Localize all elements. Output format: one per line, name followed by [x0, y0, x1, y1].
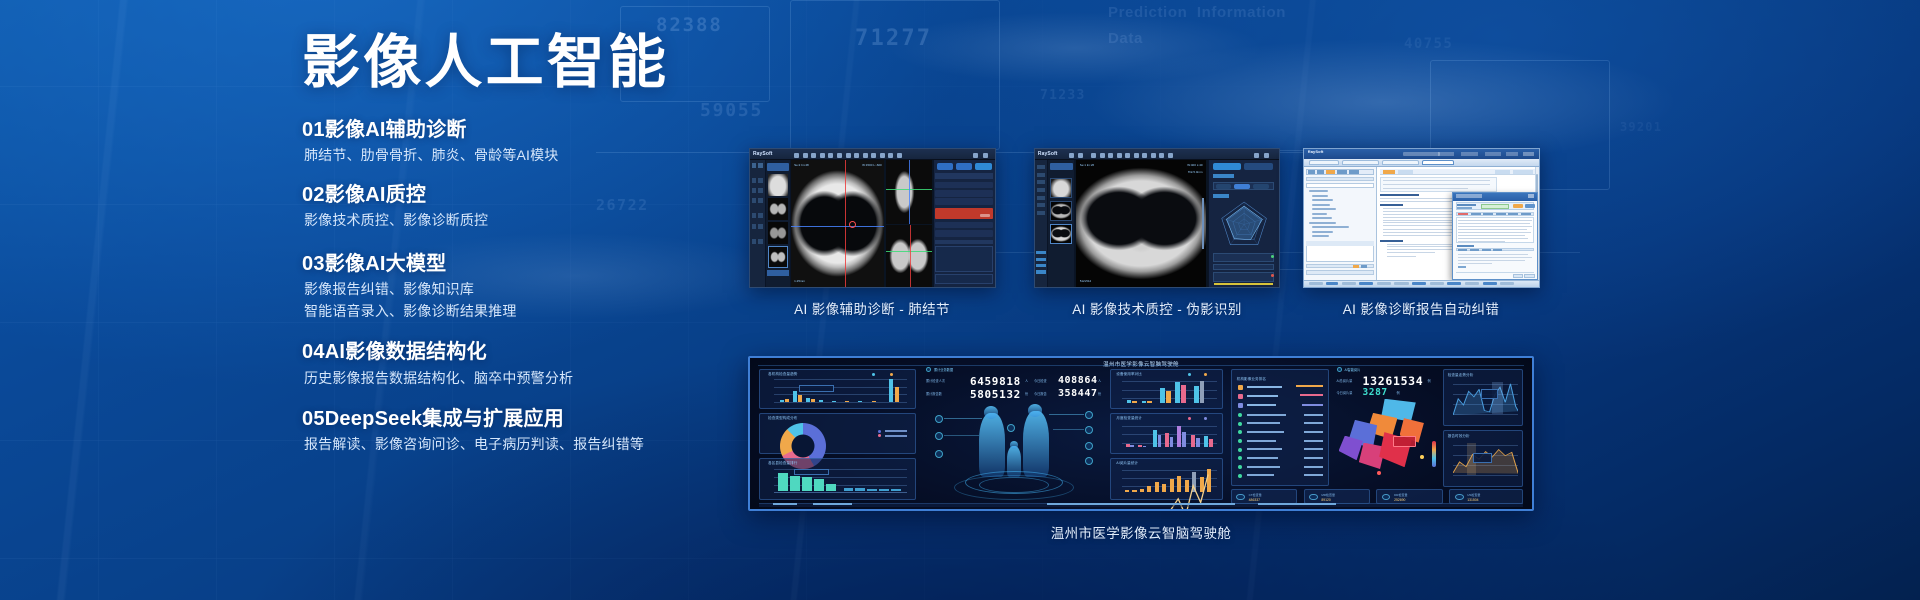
series-thumbnail-list[interactable] — [1048, 160, 1075, 287]
kpi-label: US检查量 — [1467, 493, 1480, 497]
hero-section-label: 累计业务数据 — [934, 367, 953, 372]
bg-number: 39201 — [1620, 120, 1662, 134]
feature-item-01: 01影像AI辅助诊断 肺结节、肋骨骨折、肺炎、骨龄等AI模块 — [302, 116, 722, 167]
ai-section-label: AI智能阅片 — [1345, 367, 1361, 372]
correction-popup-window[interactable] — [1452, 192, 1538, 280]
board-hero-panel: 累计业务数据 累计检查人次 6459818 人 今日检查 408864 人 累计… — [926, 367, 1102, 500]
dashboard-title: 温州市医学影像云智脑驾驶舱 — [1103, 360, 1179, 368]
lung-icon — [1236, 494, 1244, 501]
stat-label: 累计报告数 — [926, 391, 942, 396]
open-button[interactable] — [937, 163, 953, 169]
caption-dashboard: 温州市医学影像云智脑驾驶舱 — [1051, 522, 1231, 542]
card-title: 月度检查量统计 — [1116, 416, 1142, 421]
sagittal-ct-view[interactable] — [886, 160, 933, 223]
card-title: AI阅片量统计 — [1116, 461, 1138, 466]
finding-row[interactable] — [935, 222, 993, 229]
stat-unit: 份 — [1025, 391, 1028, 396]
stat-label: 今日报告 — [1034, 391, 1047, 396]
viewer-left-toolrail[interactable] — [1035, 160, 1048, 287]
feature-desc: 肺结节、肋骨骨折、肺炎、骨龄等AI模块 — [302, 145, 722, 167]
kpi-value: 252690 — [1394, 498, 1405, 502]
app-logo: RaySoft — [1038, 151, 1058, 157]
finding-row[interactable] — [935, 230, 993, 237]
card-title: 机构影像业务排名 — [1237, 377, 1266, 382]
tab-item-active[interactable] — [1422, 160, 1455, 165]
save-button[interactable] — [956, 163, 972, 169]
finding-row[interactable] — [935, 198, 993, 205]
axial-ct-view[interactable]: Se:2 Im:48 W:1500 L:-600 1.25mm — [791, 160, 884, 287]
stat-unit: 例 — [1428, 378, 1431, 383]
human-figures-graphic — [926, 403, 1102, 500]
viewer-left-toolrail[interactable] — [750, 160, 766, 287]
brain-icon — [1309, 494, 1317, 501]
kpi-label: CT检查量 — [1249, 493, 1262, 497]
feature-item-04: 04AI影像数据结构化 历史影像报告数据结构化、脑卒中预警分析 — [302, 338, 722, 389]
tab-item[interactable] — [1309, 160, 1340, 165]
finding-row-alert[interactable] — [935, 208, 993, 219]
bg-number: 71233 — [1040, 88, 1086, 103]
card-title: 各区县检查量排行 — [768, 461, 797, 466]
stat-unit: 份 — [1098, 391, 1101, 396]
board-card-ranking[interactable]: 机构影像业务排名 — [1231, 369, 1329, 487]
stat-label: 今日阅片量 — [1337, 390, 1353, 395]
caption-report-correction: AI 影像诊断报告自动纠错 — [1343, 298, 1499, 318]
board-card-line2[interactable]: 报告时效分析 — [1443, 430, 1523, 487]
screenshot-ai-qc[interactable]: RaySoft — [1034, 148, 1280, 288]
feature-item-03: 03影像AI大模型 影像报告纠错、影像知识库 智能语音录入、影像诊断结果推理 — [302, 250, 722, 323]
feature-item-02: 02影像AI质控 影像技术质控、影像诊断质控 — [302, 181, 722, 232]
screenshot-ai-diagnosis[interactable]: RaySoft — [749, 148, 996, 288]
submit-button[interactable] — [975, 163, 992, 169]
region-map[interactable] — [1337, 397, 1439, 485]
report-tree-sidebar[interactable] — [1304, 167, 1377, 279]
finding-row[interactable] — [935, 190, 993, 197]
feature-title: 04AI影像数据结构化 — [302, 338, 722, 367]
card-title: 检查量走势分析 — [1448, 373, 1474, 378]
kpi-label: DR检查量 — [1394, 493, 1407, 497]
tab-item[interactable] — [1342, 160, 1380, 165]
page-title: 影像人工智能 — [302, 34, 669, 92]
app-tabbar[interactable] — [1304, 159, 1539, 168]
qc-score-panel[interactable] — [1208, 160, 1279, 287]
axial-ct-view[interactable]: Se:1 Im:26 W:400 L:40 Thk:5.0mm 512x512 — [1076, 160, 1205, 287]
app-logo: RaySoft — [1308, 149, 1324, 154]
card-title: 检查类型构成分布 — [768, 416, 797, 421]
bone-icon — [1382, 494, 1390, 501]
screenshot-imaging-cloud-dashboard[interactable]: 温州市医学影像云智脑驾驶舱 各机构检查量趋势 — [748, 356, 1534, 511]
feature-list: 01影像AI辅助诊断 肺结节、肋骨骨折、肺炎、骨龄等AI模块 02影像AI质控 … — [302, 116, 722, 458]
feature-desc-line1: 影像报告纠错、影像知识库 — [302, 279, 722, 301]
app-titlebar: RaySoft — [1304, 149, 1539, 159]
stat-value: 408864 — [1058, 375, 1098, 386]
qc-radar-chart — [1212, 199, 1276, 250]
stat-unit: 人 — [1025, 378, 1028, 383]
stat-label: AI总阅片量 — [1337, 378, 1353, 383]
caption-ai-qc: AI 影像技术质控 - 伪影识别 — [1072, 298, 1242, 318]
coronal-ct-view[interactable] — [886, 225, 933, 287]
finding-row[interactable] — [935, 182, 993, 189]
stat-value: 13261534 — [1363, 374, 1424, 388]
tab-item[interactable] — [1382, 160, 1420, 165]
board-card-bar6[interactable]: AI阅片量统计 — [1110, 458, 1223, 500]
bg-word: Prediction Information — [1108, 4, 1286, 21]
feature-desc: 历史影像报告数据结构化、脑卒中预警分析 — [302, 368, 722, 390]
board-card-bar1[interactable]: 各机构检查量趋势 — [759, 369, 915, 410]
feature-desc-line2: 智能语音录入、影像诊断结果推理 — [302, 301, 722, 323]
kpi-value: 486337 — [1249, 498, 1260, 502]
kpi-value: 131504 — [1467, 498, 1478, 502]
board-card-bar3[interactable]: 各区县检查量排行 — [759, 458, 915, 500]
bg-word: Data — [1108, 30, 1143, 47]
feature-desc: 影像技术质控、影像诊断质控 — [302, 210, 722, 232]
popup-titlebar[interactable] — [1453, 193, 1537, 201]
stat-value: 6459818 — [970, 375, 1021, 388]
card-title: 报告时效分析 — [1448, 434, 1470, 439]
board-card-donut[interactable]: 检查类型构成分布 — [759, 413, 915, 454]
banner-root: 82388 71277 59055 26722 71233 40755 3920… — [0, 0, 1920, 600]
stat-label: 今日检查 — [1034, 378, 1047, 383]
board-card-bar5[interactable]: 月度检查量统计 — [1110, 413, 1223, 454]
card-title: 各机构检查量趋势 — [768, 372, 797, 377]
card-title: 设备使用率对比 — [1116, 372, 1142, 377]
findings-panel[interactable] — [933, 160, 995, 287]
app-statusbar[interactable] — [1304, 280, 1539, 287]
stat-label: 累计检查人次 — [926, 378, 945, 383]
kpi-value: 89120 — [1321, 498, 1330, 502]
bg-number: 40755 — [1404, 36, 1453, 52]
stat-value: 5805132 — [970, 388, 1021, 401]
feature-title: 03影像AI大模型 — [302, 250, 722, 279]
screenshot-report-correction[interactable]: RaySoft — [1303, 148, 1540, 288]
stat-value: 358447 — [1058, 388, 1098, 399]
feature-title: 05DeepSeek集成与扩展应用 — [302, 405, 722, 434]
feature-item-05: 05DeepSeek集成与扩展应用 报告解读、影像咨询问诊、电子病历判读、报告纠… — [302, 405, 722, 456]
tab-artifact-detect[interactable] — [1244, 163, 1273, 170]
bg-number: 71277 — [855, 26, 932, 51]
stat-unit: 例 — [1397, 390, 1400, 395]
heart-icon — [1455, 494, 1464, 501]
series-thumbnail-list[interactable] — [766, 160, 792, 287]
board-map-panel: AI智能阅片 AI总阅片量 13261534 例 今日阅片量 3287 例 — [1337, 367, 1439, 485]
board-card-bar4[interactable]: 设备使用率对比 — [1110, 369, 1223, 410]
caption-ai-diagnosis: AI 影像辅助诊断 - 肺结节 — [794, 298, 950, 318]
app-logo: RaySoft — [753, 151, 773, 157]
feature-desc: 报告解读、影像咨询问诊、电子病历判读、报告纠错等 — [302, 434, 722, 456]
kpi-label: MR检查量 — [1321, 493, 1335, 497]
stat-unit: 人 — [1098, 378, 1101, 383]
feature-title: 02影像AI质控 — [302, 181, 722, 210]
tab-qc-score[interactable] — [1213, 163, 1241, 170]
board-card-line1[interactable]: 检查量走势分析 — [1443, 369, 1523, 426]
feature-title: 01影像AI辅助诊断 — [302, 116, 722, 145]
